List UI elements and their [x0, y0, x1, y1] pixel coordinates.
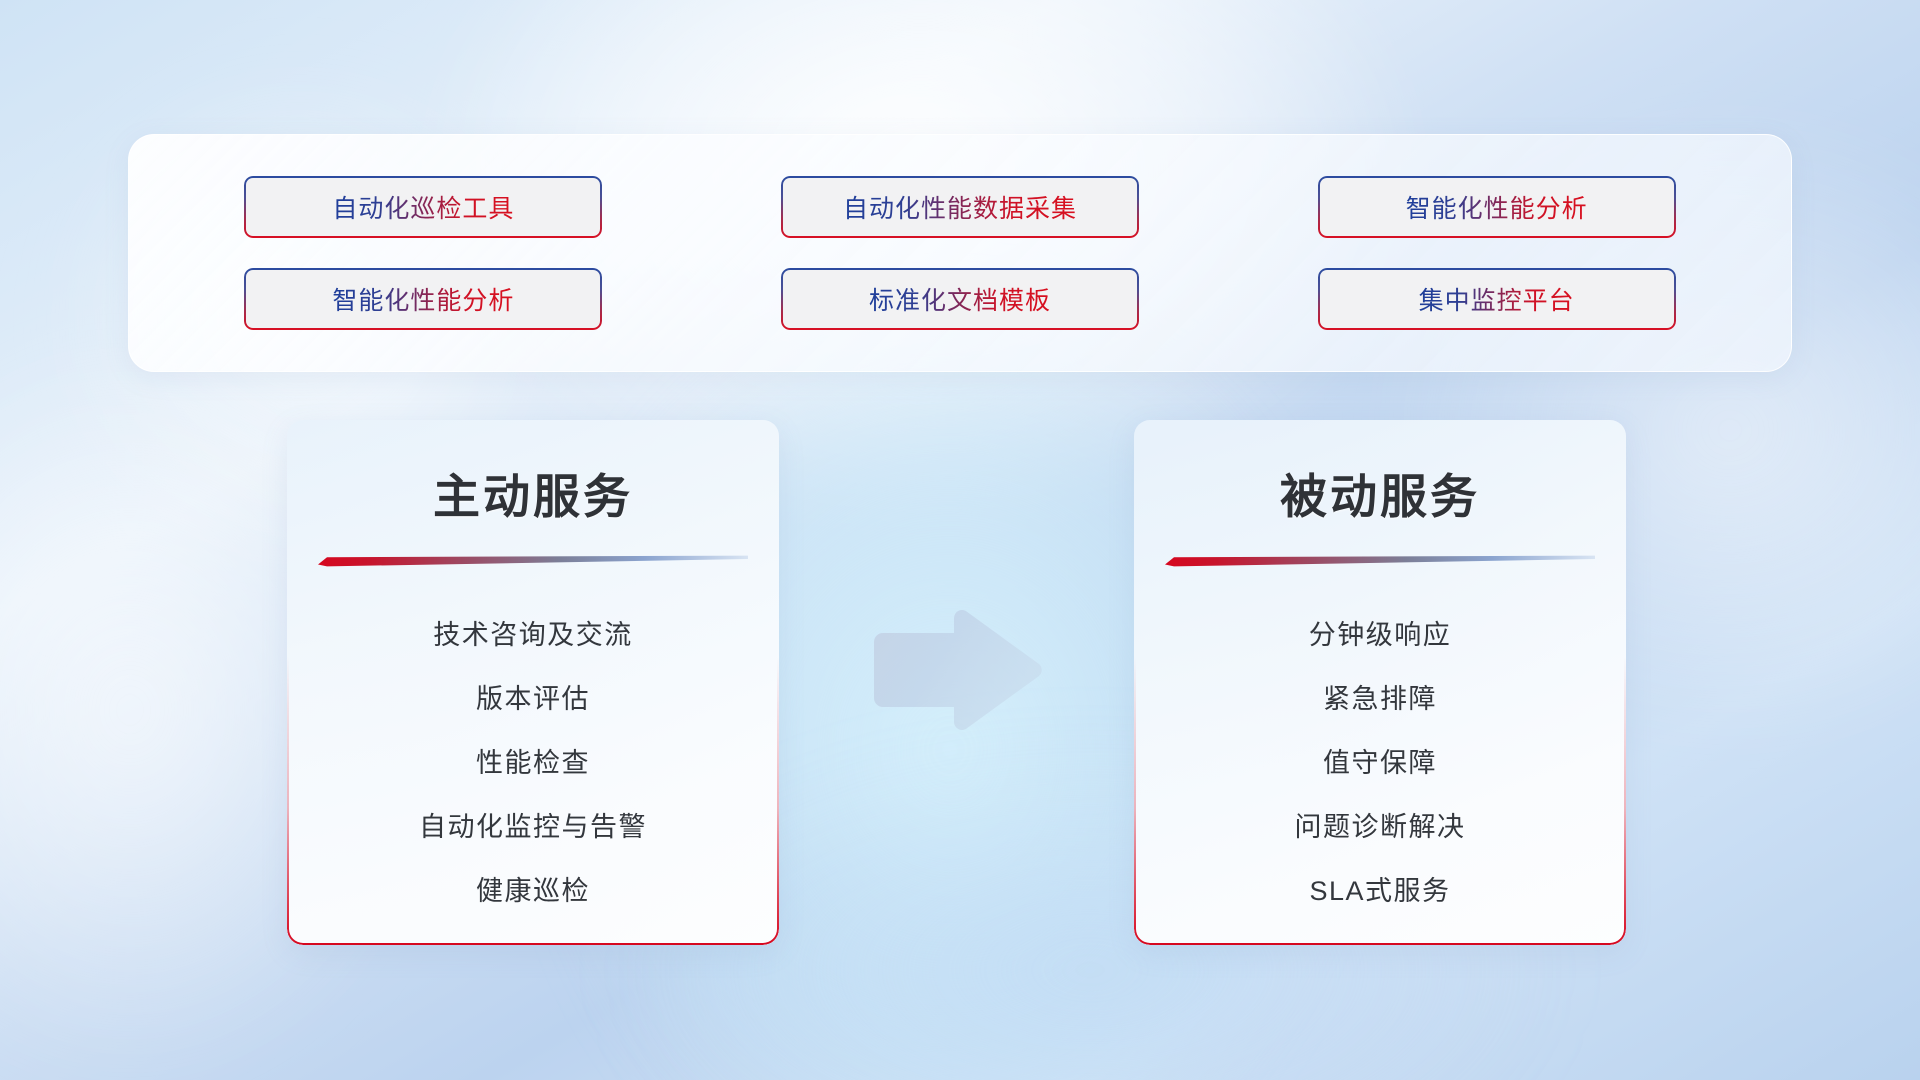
capability-tag-label: 智能化性能分析: [1406, 189, 1588, 225]
capability-tag[interactable]: 智能化性能分析: [244, 268, 602, 330]
service-card-reactive[interactable]: 被动服务 分钟级响应 紧急排障 值守保障: [1134, 420, 1626, 945]
capability-tag-label: 集中监控平台: [1419, 281, 1575, 317]
card-item-list: 技术咨询及交流 版本评估 性能检查 自动化监控与告警 健康巡检: [287, 613, 779, 908]
capability-tag[interactable]: 自动化巡检工具: [244, 176, 602, 238]
card-title: 主动服务: [287, 458, 779, 527]
slide-canvas: 自动化巡检工具 智能化性能分析 自动化性能数据采集 标准化文档模板 智能化性能分…: [0, 0, 1920, 1080]
capability-tag-label: 自动化性能数据采集: [843, 189, 1077, 225]
list-item: 值守保障: [1323, 741, 1437, 780]
capability-tag-label: 智能化性能分析: [332, 281, 514, 317]
capabilities-panel: 自动化巡检工具 智能化性能分析 自动化性能数据采集 标准化文档模板 智能化性能分…: [128, 134, 1792, 372]
capability-column-2: 自动化性能数据采集 标准化文档模板: [781, 176, 1139, 330]
card-item-list: 分钟级响应 紧急排障 值守保障 问题诊断解决 SLA式服务: [1134, 613, 1626, 908]
list-item: SLA式服务: [1309, 869, 1450, 908]
list-item: 版本评估: [476, 677, 590, 716]
list-item: 健康巡检: [476, 869, 590, 908]
arrow-right-icon: [868, 608, 1046, 732]
capability-tag-label: 标准化文档模板: [869, 281, 1051, 317]
capability-tag[interactable]: 集中监控平台: [1318, 268, 1676, 330]
card-divider: [1165, 555, 1595, 567]
card-title: 被动服务: [1134, 458, 1626, 527]
service-card-proactive[interactable]: 主动服务 技术咨询及交流 版本评估 性能检查: [287, 420, 779, 945]
capability-tag[interactable]: 标准化文档模板: [781, 268, 1139, 330]
capability-tag[interactable]: 自动化性能数据采集: [781, 176, 1139, 238]
capability-column-3: 智能化性能分析 集中监控平台: [1318, 176, 1676, 330]
capability-column-1: 自动化巡检工具 智能化性能分析: [244, 176, 602, 330]
card-divider: [318, 555, 748, 567]
list-item: 紧急排障: [1323, 677, 1437, 716]
list-item: 分钟级响应: [1309, 613, 1452, 652]
list-item: 问题诊断解决: [1295, 805, 1466, 844]
capability-tag[interactable]: 智能化性能分析: [1318, 176, 1676, 238]
list-item: 技术咨询及交流: [433, 613, 633, 652]
list-item: 自动化监控与告警: [419, 805, 647, 844]
capability-tag-label: 自动化巡检工具: [332, 189, 514, 225]
list-item: 性能检查: [476, 741, 590, 780]
